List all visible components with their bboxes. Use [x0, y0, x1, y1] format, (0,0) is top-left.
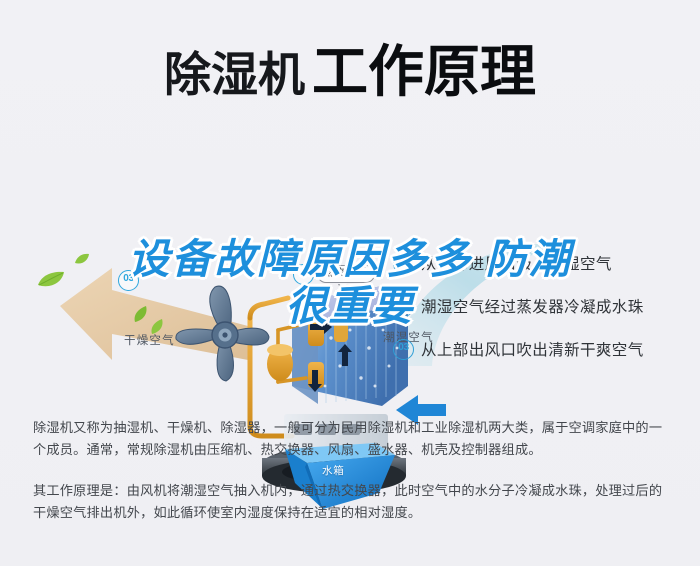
- body-paragraph-1: 除湿机又称为抽湿机、干燥机、除湿器，一般可分为民用除湿机和工业除湿机两大类，属于…: [33, 417, 673, 461]
- page-root: 除湿机工作原理: [0, 0, 700, 566]
- diagram-badge-03: 03: [118, 270, 139, 291]
- leaf-icon: [133, 304, 148, 323]
- leaf-icon: [36, 270, 66, 290]
- step-badge-03: 03: [393, 339, 414, 360]
- callout-tail-icon: [338, 284, 350, 295]
- leaf-icon: [74, 253, 90, 266]
- heat-exchanger-callout-label: 热交换器: [325, 268, 367, 279]
- label-dry-air: 干燥空气: [124, 332, 175, 348]
- step-badge-01: 01: [393, 253, 414, 274]
- step-text-03: 从上部出风口吹出清新干爽空气: [421, 338, 644, 360]
- heat-exchanger-callout: 热交换器: [317, 265, 375, 283]
- step-text-02: 潮湿空气经过蒸发器冷凝成水珠: [421, 295, 644, 317]
- page-title-part2: 工作原理: [312, 40, 536, 103]
- list-item: 01 从下部进风口吸入潮湿空气: [393, 248, 693, 278]
- list-item: 03 从上部出风口吹出清新干爽空气: [393, 334, 693, 364]
- list-item: 02 潮湿空气经过蒸发器冷凝成水珠: [393, 291, 693, 321]
- step-badge-02: 02: [393, 296, 414, 317]
- body-paragraph-2: 其工作原理是：由风机将潮湿空气抽入机内，通过热交换器，此时空气中的水分子冷凝成水…: [33, 480, 673, 524]
- step-list: 01 从下部进风口吸入潮湿空气 02 潮湿空气经过蒸发器冷凝成水珠 03 从上部…: [393, 248, 693, 377]
- diagram-badge-02: 02: [293, 264, 314, 285]
- fan-blade-icon: [168, 281, 283, 391]
- step-text-01: 从下部进风口吸入潮湿空气: [421, 252, 612, 274]
- page-title: 除湿机工作原理: [0, 27, 700, 108]
- body-copy: 除湿机又称为抽湿机、干燥机、除湿器，一般可分为民用除湿机和工业除湿机两大类，属于…: [33, 417, 673, 524]
- page-title-part1: 除湿机: [164, 48, 305, 101]
